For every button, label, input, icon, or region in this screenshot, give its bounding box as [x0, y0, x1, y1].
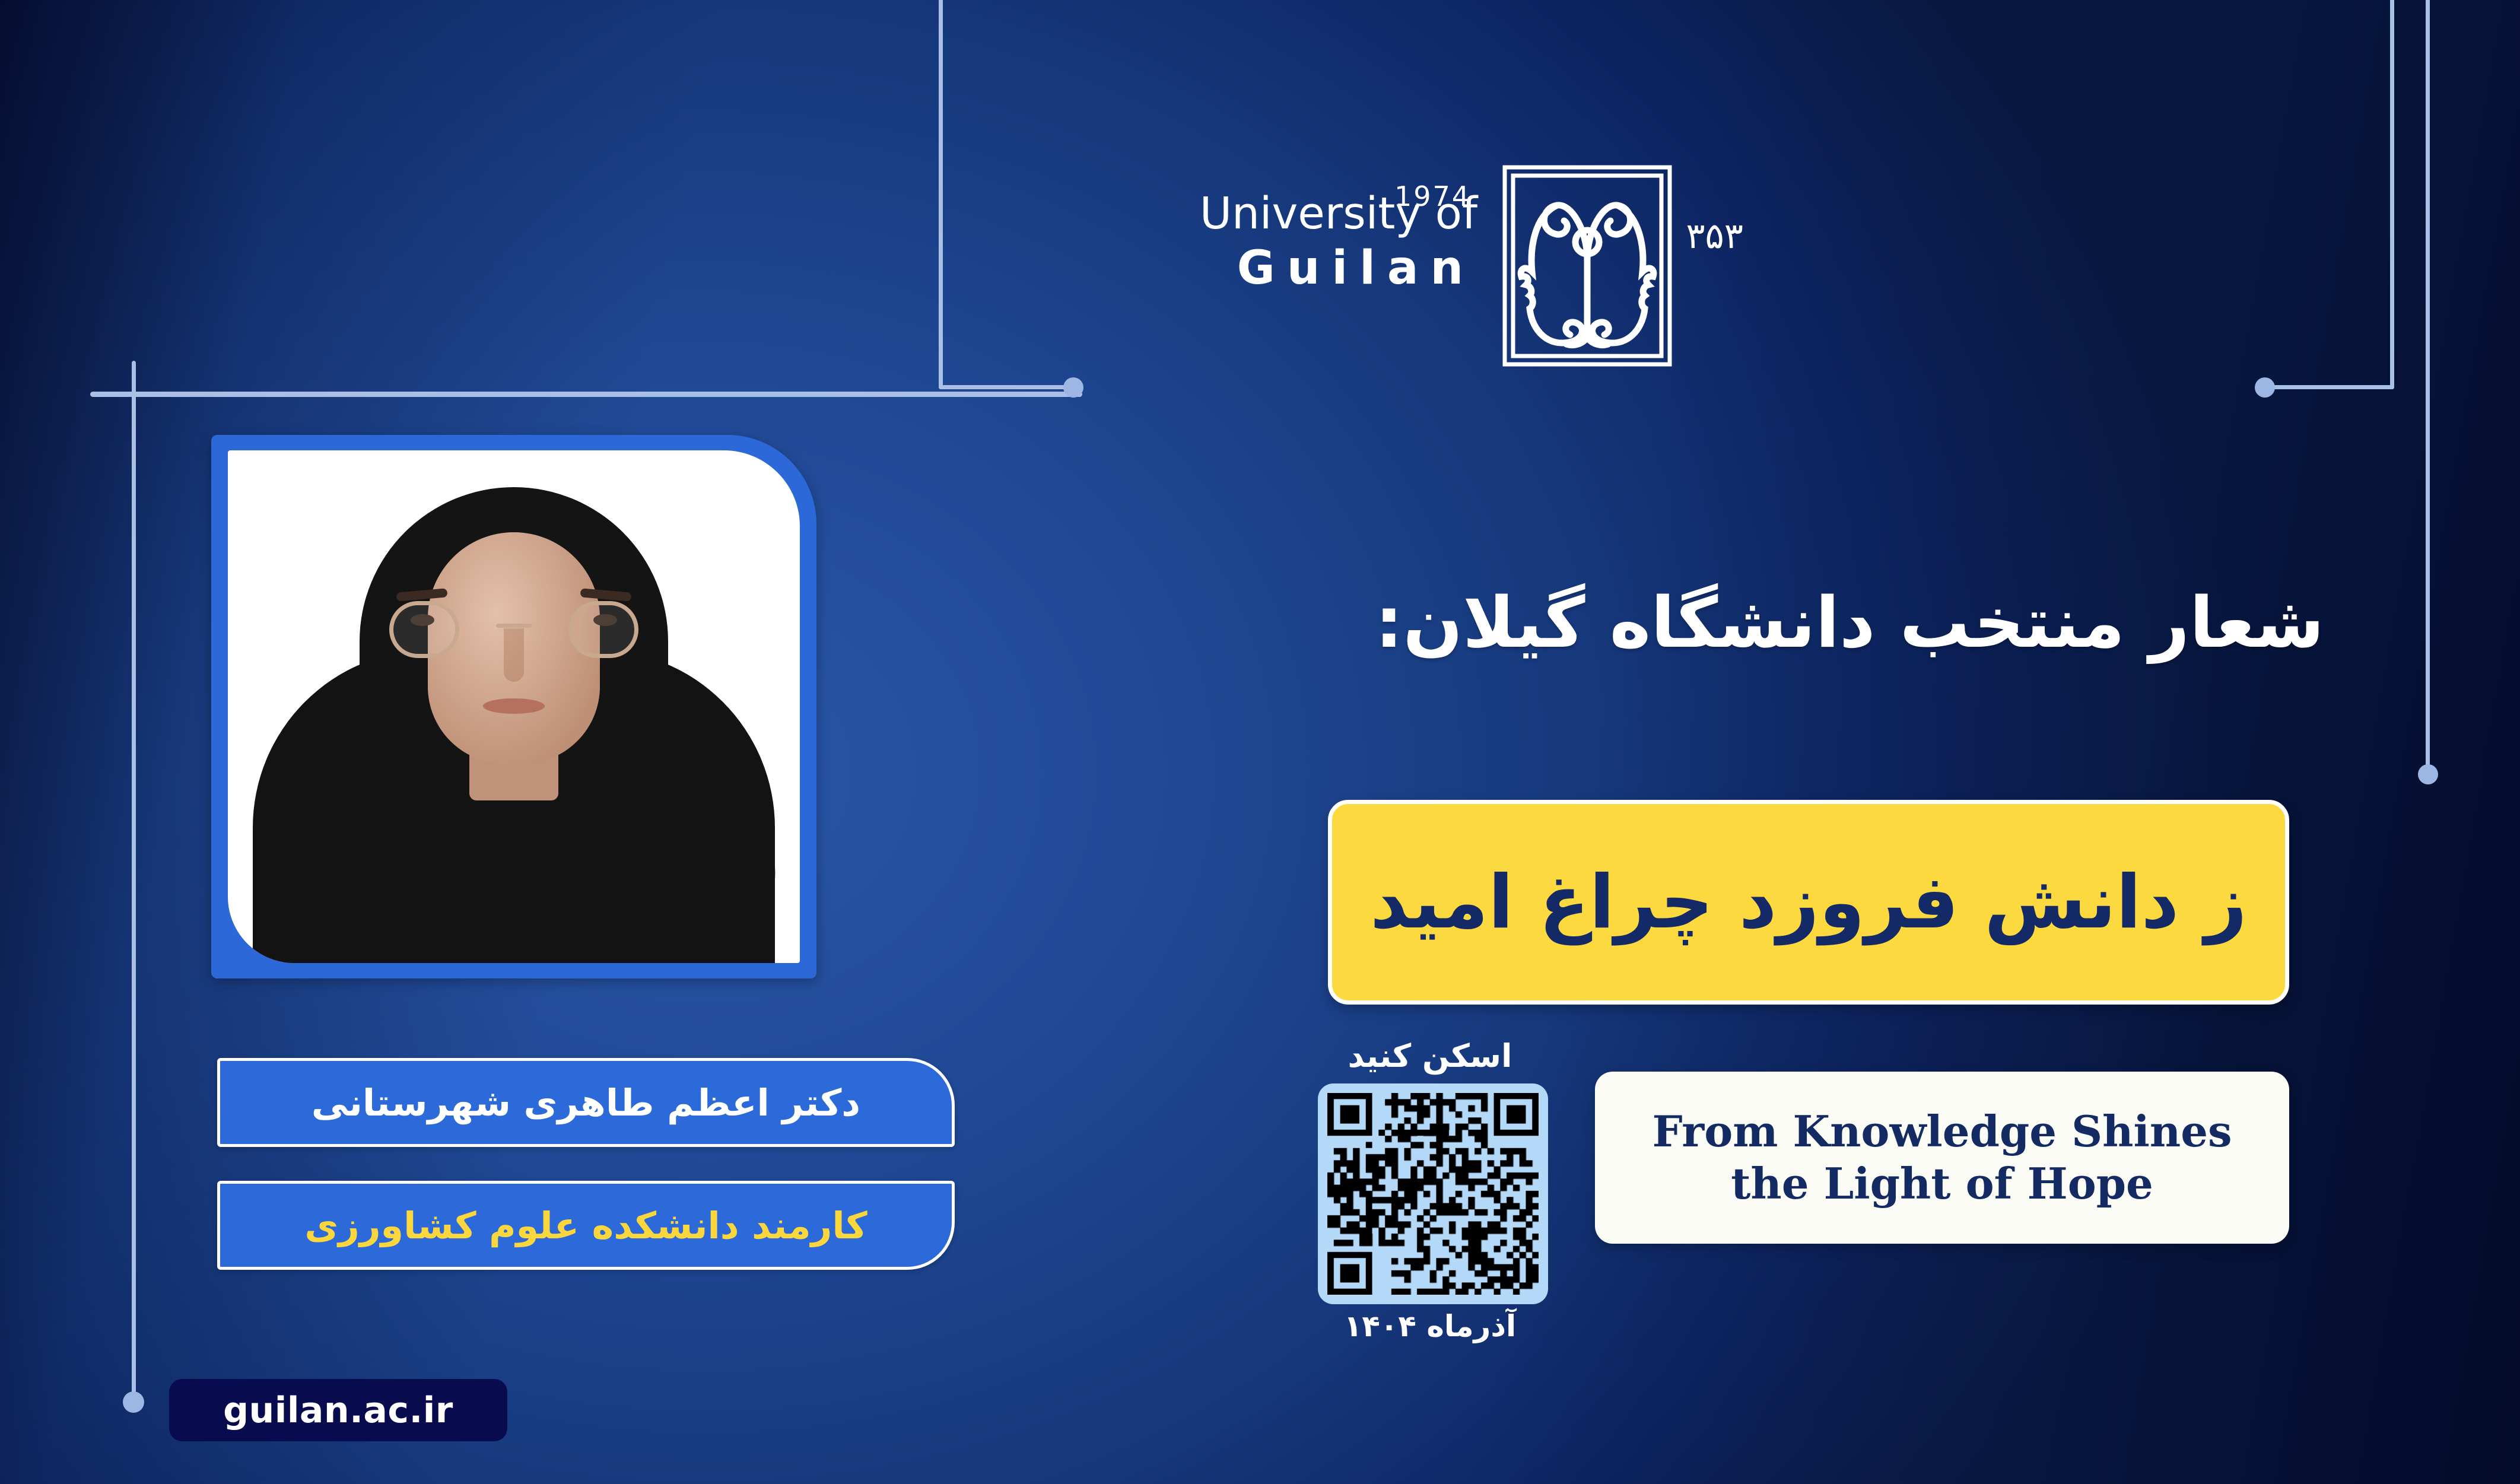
decor-dot-right — [2418, 764, 2438, 784]
portrait-photo-frame — [211, 435, 816, 978]
qr-code-canvas[interactable] — [1327, 1093, 1539, 1295]
qr-section: اسکن کنید آذرماه ۱۴۰۴ — [1302, 1044, 1558, 1353]
slogan-persian-text: ز دانش فروزد چراغ امید — [1370, 860, 2247, 945]
portrait-lips — [483, 698, 545, 714]
qr-date-label: آذرماه ۱۴۰۴ — [1302, 1309, 1558, 1343]
decor-line-right-vertical — [2426, 0, 2430, 771]
poster-canvas: 1974 University of Guilan دانشگاه گیلان … — [0, 0, 2520, 1484]
portrait-glasses-left — [389, 601, 459, 658]
university-logo: 1974 University of Guilan دانشگاه گیلان … — [1199, 178, 2124, 380]
person-name-label: دکتر اعظم طاهری شهرستانی — [312, 1081, 860, 1124]
website-url-badge[interactable]: guilan.ac.ir — [169, 1379, 507, 1441]
decor-line-top-left-horizontal — [939, 385, 1068, 389]
logo-name-line2: Guilan — [1199, 241, 1477, 295]
guilan-emblem-icon — [1495, 159, 1679, 373]
decor-dot-bottom-left — [123, 1391, 144, 1413]
decor-line-top-right-horizontal — [2271, 385, 2394, 389]
decor-line-left-vertical — [132, 361, 136, 1400]
svg-text:دانشگاه گیلان: دانشگاه گیلان — [2115, 165, 2118, 268]
decor-dot-top-left — [1063, 377, 1083, 398]
logo-english-block: 1974 University of Guilan — [1199, 191, 1477, 295]
svg-text:۱۳۵۳: ۱۳۵۳ — [1679, 215, 1743, 257]
qr-code-icon[interactable] — [1318, 1083, 1548, 1304]
decor-dot-top-right — [2255, 377, 2275, 398]
headline-text: شعار منتخب دانشگاه گیلان: — [1137, 581, 2324, 663]
portrait-glasses-right — [568, 601, 638, 658]
decor-line-left-horizontal — [90, 392, 1082, 397]
qr-scan-label: اسکن کنید — [1302, 1037, 1558, 1075]
person-role-label: کارمند دانشکده علوم کشاورزی — [304, 1204, 867, 1247]
person-name-badge: دکتر اعظم طاهری شهرستانی — [217, 1058, 955, 1147]
person-role-badge: کارمند دانشکده علوم کشاورزی — [217, 1181, 955, 1270]
logo-year-latin: 1974 — [1394, 180, 1471, 212]
decor-line-top-right-vertical — [2390, 0, 2394, 389]
portrait-glasses-bridge — [496, 624, 532, 628]
motto-line-2: the Light of Hope — [1731, 1158, 2153, 1210]
portrait-nose — [504, 628, 524, 682]
english-motto-box: From Knowledge Shines the Light of Hope — [1595, 1072, 2289, 1244]
portrait-photo — [228, 450, 800, 963]
logo-name-persian: دانشگاه گیلان ۱۳۵۳ — [1679, 136, 2118, 314]
website-url-label: guilan.ac.ir — [223, 1390, 453, 1431]
motto-line-1: From Knowledge Shines — [1652, 1105, 2232, 1158]
slogan-box: ز دانش فروزد چراغ امید — [1328, 800, 2289, 1005]
decor-line-top-left-vertical — [939, 0, 943, 389]
